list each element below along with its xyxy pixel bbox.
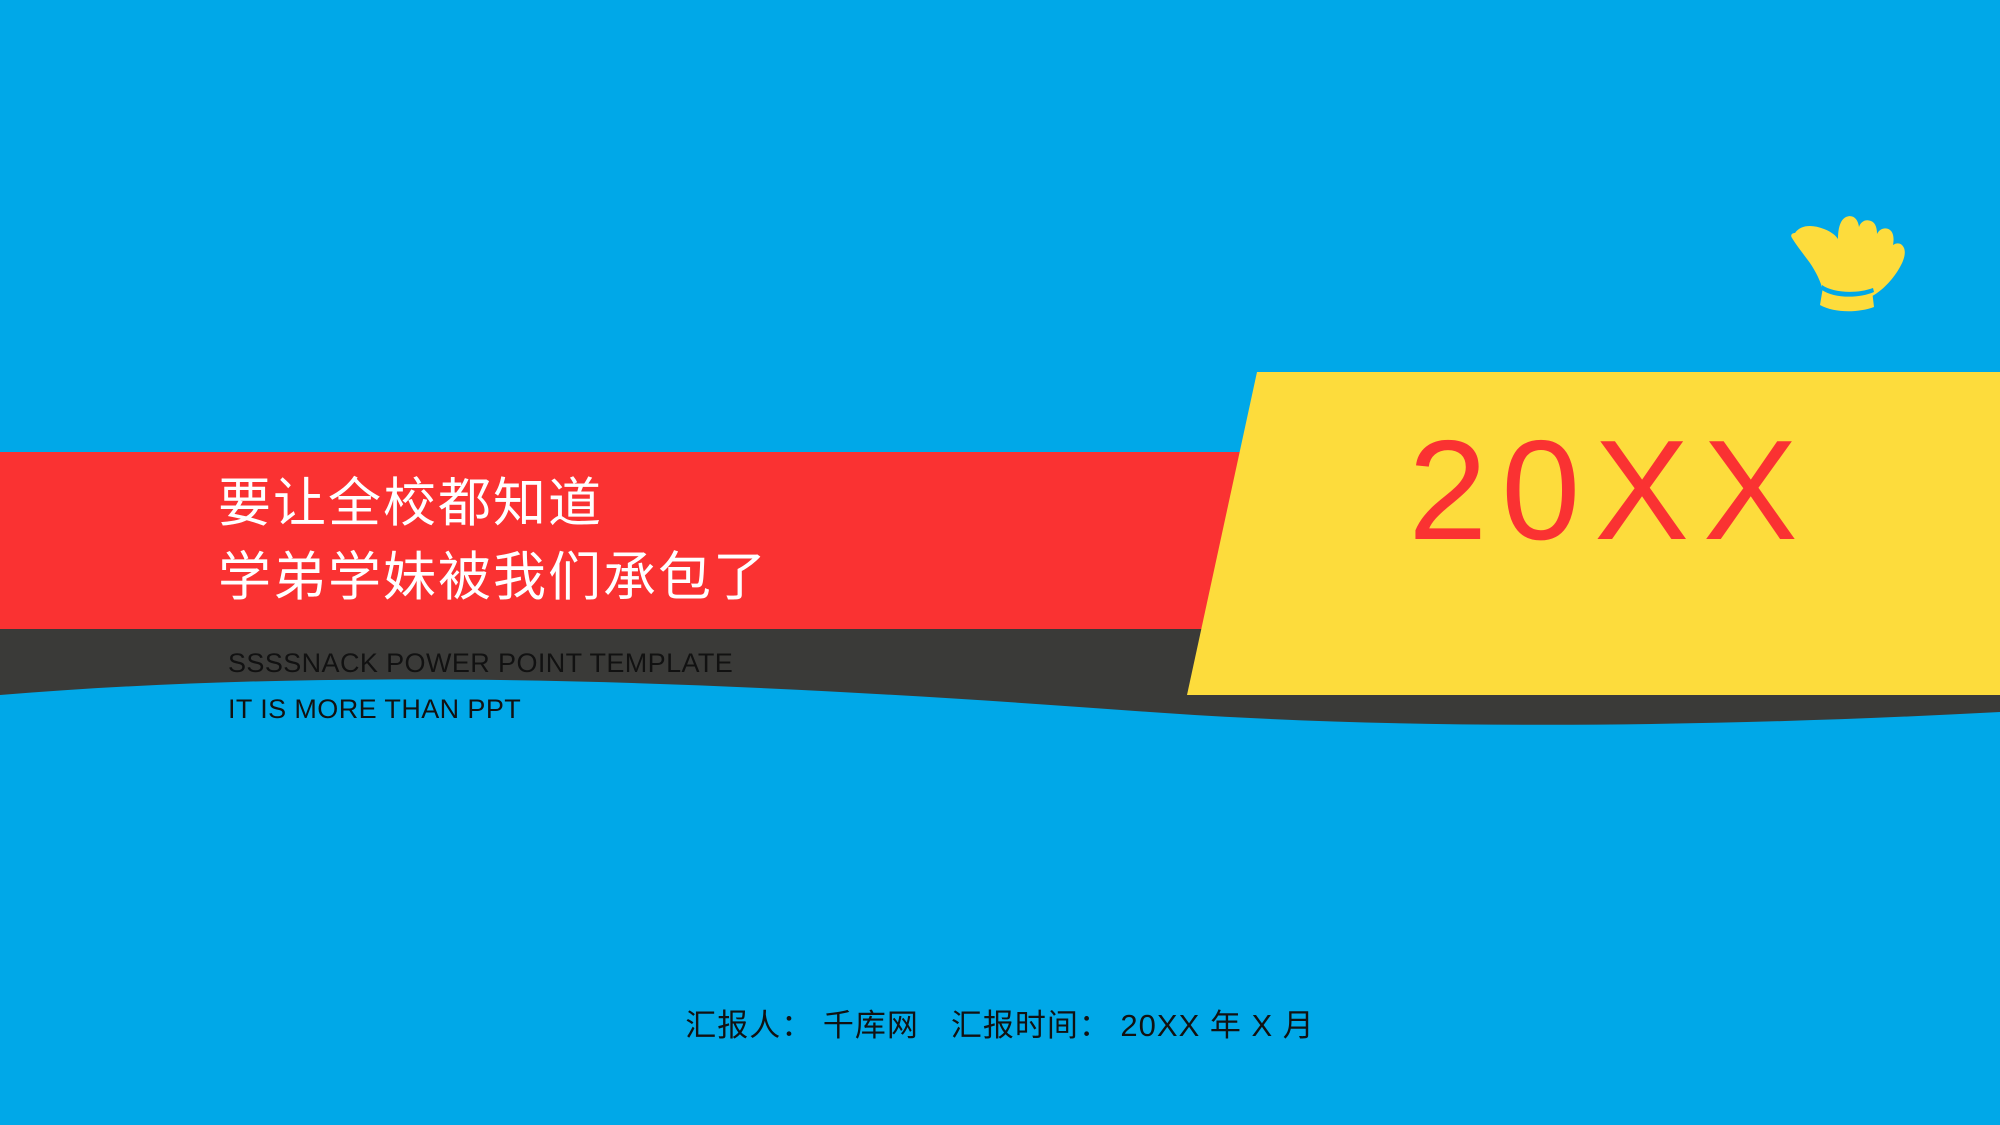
subtitle-line-2: IT IS MORE THAN PPT [228,686,733,732]
red-title-band [0,452,1255,629]
hand-thumb-icon [1770,195,1910,315]
footer-text: 汇报人： 千库网 汇报时间： 20XX 年 X 月 [685,1008,1315,1043]
subtitle-line-1: SSSSNACK POWER POINT TEMPLATE [228,640,733,686]
presentation-slide: 要让全校都知道 学弟学妹被我们承包了 SSSSNACK POWER POINT … [0,0,2000,1125]
subtitle: SSSSNACK POWER POINT TEMPLATE IT IS MORE… [228,640,733,733]
footer: 汇报人： 千库网 汇报时间： 20XX 年 X 月 [0,1000,2000,1045]
yellow-year-panel [1180,365,2000,700]
